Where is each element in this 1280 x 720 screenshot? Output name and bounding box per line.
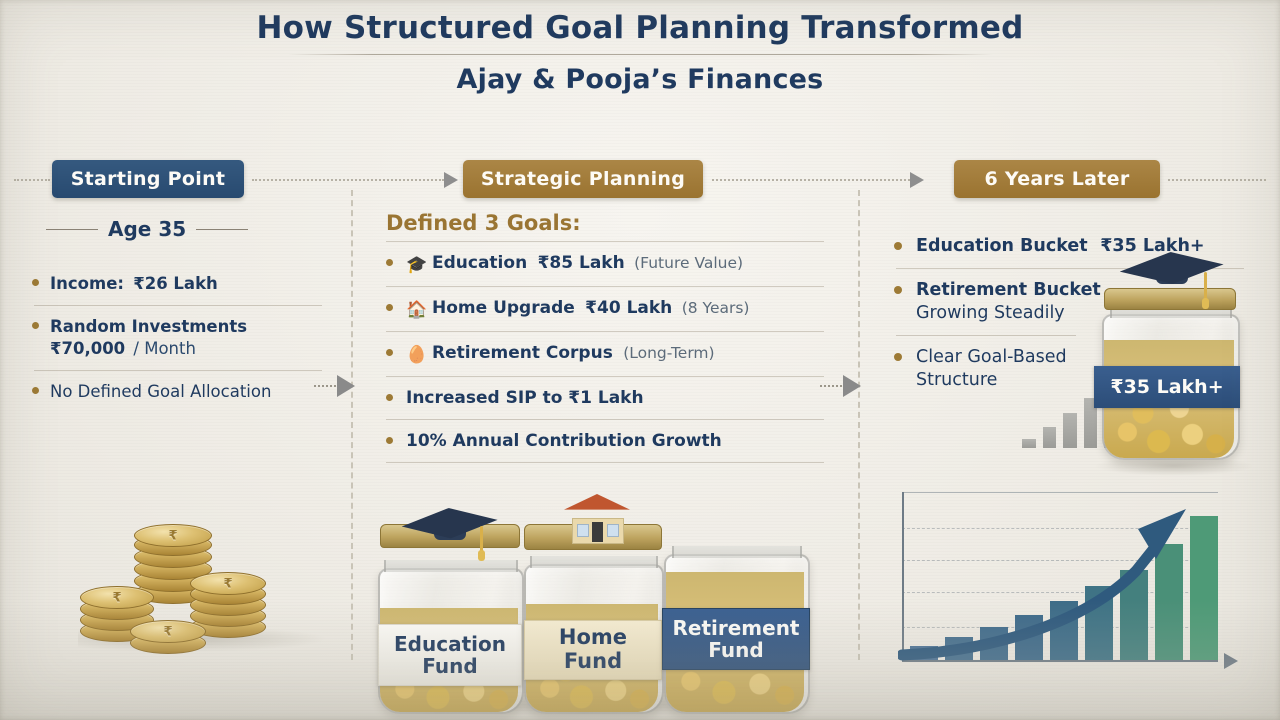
timeline-dash-1 <box>252 179 444 181</box>
timeline-arrow-2-icon <box>910 172 924 188</box>
house-icon: 🏠 <box>406 299 432 321</box>
goals-list: 🎓Education ₹85 Lakh (Future Value) 🏠Home… <box>380 242 830 463</box>
goal-amount: ₹40 Lakh <box>585 298 672 318</box>
goal-note: (Long-Term) <box>623 344 714 362</box>
stage-badge-label: 6 Years Later <box>984 168 1129 190</box>
wealth-growth-chart <box>888 482 1244 687</box>
income-prefix: Income: <box>50 274 124 293</box>
column-strategic-planning: Defined 3 Goals: 🎓Education ₹85 Lakh (Fu… <box>380 205 830 463</box>
goal-name: Home Upgrade <box>432 298 575 318</box>
timeline-stages: Starting Point Strategic Planning 6 Year… <box>0 160 1280 200</box>
jar-label-line2: Fund <box>422 655 477 677</box>
jar-label-education: Education Fund <box>378 624 522 686</box>
title-line-1: How Structured Goal Planning Transformed <box>0 6 1280 50</box>
title-divider <box>288 54 993 55</box>
age-rule-right <box>196 229 248 230</box>
goal-name: Education <box>432 253 527 273</box>
action-item-increased-sip: Increased SIP to ₹1 Lakh <box>380 377 830 419</box>
outcome-line2: Growing Steadily <box>916 303 1065 323</box>
random-investments-period: / Month <box>133 339 196 358</box>
mini-bar <box>1063 413 1077 448</box>
outcome-line1: Education Bucket <box>916 236 1088 256</box>
action-text: 10% Annual Contribution Growth <box>406 431 722 451</box>
gold-egg-icon: 🥚 <box>406 344 432 366</box>
goal-item-retirement-corpus: 🥚Retirement Corpus (Long-Term) <box>380 332 830 376</box>
goals-heading: Defined 3 Goals: <box>386 211 830 235</box>
flow-arrow-2-icon <box>843 375 861 397</box>
coin-face-icon: ₹ <box>190 572 266 595</box>
jar-label-home: Home Fund <box>524 620 662 680</box>
jar-label-line2: Fund <box>564 650 622 674</box>
coin-stacks-illustration: ₹ ₹ ₹ ₹ <box>78 520 328 660</box>
house-icon <box>562 494 632 542</box>
no-goal-allocation-text: No Defined Goal Allocation <box>50 382 271 401</box>
stage-badge-6-years-later[interactable]: 6 Years Later <box>954 160 1160 198</box>
jar-retirement-fund: Retirement Fund <box>664 524 810 714</box>
mini-bar <box>1022 439 1036 448</box>
outcome-line2: Structure <box>916 370 997 390</box>
stage-badge-label: Starting Point <box>71 168 226 190</box>
title-line-2: Ajay & Pooja’s Finances <box>0 61 1280 99</box>
column-starting-point: Age 35 Income: ₹26 Lakh Random Investmen… <box>28 205 328 413</box>
column-separator-2 <box>858 190 860 660</box>
jar-label-line1: Home <box>559 626 627 650</box>
goal-item-home-upgrade: 🏠Home Upgrade ₹40 Lakh (8 Years) <box>380 287 830 331</box>
goal-note: (8 Years) <box>682 299 750 317</box>
jar-home-fund: Home Fund <box>524 524 664 714</box>
flow-arrow-1-icon <box>337 375 355 397</box>
outcome-line1: Retirement Bucket <box>916 280 1101 300</box>
jar-label-line2: Fund <box>708 639 763 661</box>
goal-name: Retirement Corpus <box>432 343 613 363</box>
graduation-cap-icon: 🎓 <box>406 254 432 276</box>
stage-badge-strategic-planning[interactable]: Strategic Planning <box>463 160 703 198</box>
page-title: How Structured Goal Planning Transformed… <box>0 6 1280 99</box>
mini-bar <box>1043 427 1057 448</box>
list-item-random-investments: Random Investments ₹70,000 / Month <box>28 306 328 370</box>
starting-point-list: Income: ₹26 Lakh Random Investments ₹70,… <box>28 263 328 413</box>
goal-note: (Future Value) <box>634 254 743 272</box>
jar-label-line1: Retirement <box>672 617 799 639</box>
timeline-arrow-1-icon <box>444 172 458 188</box>
stage-badge-starting-point[interactable]: Starting Point <box>52 160 244 198</box>
age-rule-left <box>46 229 98 230</box>
timeline-dash-start <box>14 179 50 181</box>
coin-face-icon: ₹ <box>80 586 154 609</box>
goal-jars-illustration: Education Fund Home Fund <box>372 505 812 720</box>
age-label: Age 35 <box>108 217 186 241</box>
timeline-dash-end <box>1168 179 1266 181</box>
jar-label-line1: Education <box>394 633 506 655</box>
stage-badge-label: Strategic Planning <box>481 168 685 190</box>
growth-arrow-icon <box>898 485 1228 663</box>
outcome-line1: Clear Goal-Based <box>916 347 1067 367</box>
graduation-cap-icon <box>402 508 498 552</box>
goal-amount: ₹85 Lakh <box>538 253 625 273</box>
list-item-no-goal-allocation: No Defined Goal Allocation <box>28 371 328 413</box>
infographic-canvas: How Structured Goal Planning Transformed… <box>0 0 1280 720</box>
column-separator-1 <box>351 190 353 660</box>
graduation-cap-icon <box>1120 252 1224 298</box>
action-text: Increased SIP to ₹1 Lakh <box>406 388 644 408</box>
coin-face-icon: ₹ <box>130 620 206 643</box>
education-bucket-jar-illustration: ₹35 Lakh+ <box>1098 288 1248 468</box>
timeline-dash-2 <box>712 179 910 181</box>
jar-label-retirement: Retirement Fund <box>662 608 810 670</box>
jar-education-fund: Education Fund <box>378 524 524 714</box>
list-item-income: Income: ₹26 Lakh <box>28 263 328 305</box>
random-investments-title: Random Investments <box>50 317 247 336</box>
jar-amount-label: ₹35 Lakh+ <box>1094 366 1240 408</box>
income-value: ₹26 Lakh <box>133 274 218 293</box>
random-investments-amount: ₹70,000 <box>50 339 125 358</box>
list-divider <box>386 462 824 463</box>
coin-face-icon: ₹ <box>134 524 212 547</box>
goal-item-education: 🎓Education ₹85 Lakh (Future Value) <box>380 242 830 286</box>
age-row: Age 35 <box>46 217 274 241</box>
action-item-annual-growth: 10% Annual Contribution Growth <box>380 420 830 462</box>
